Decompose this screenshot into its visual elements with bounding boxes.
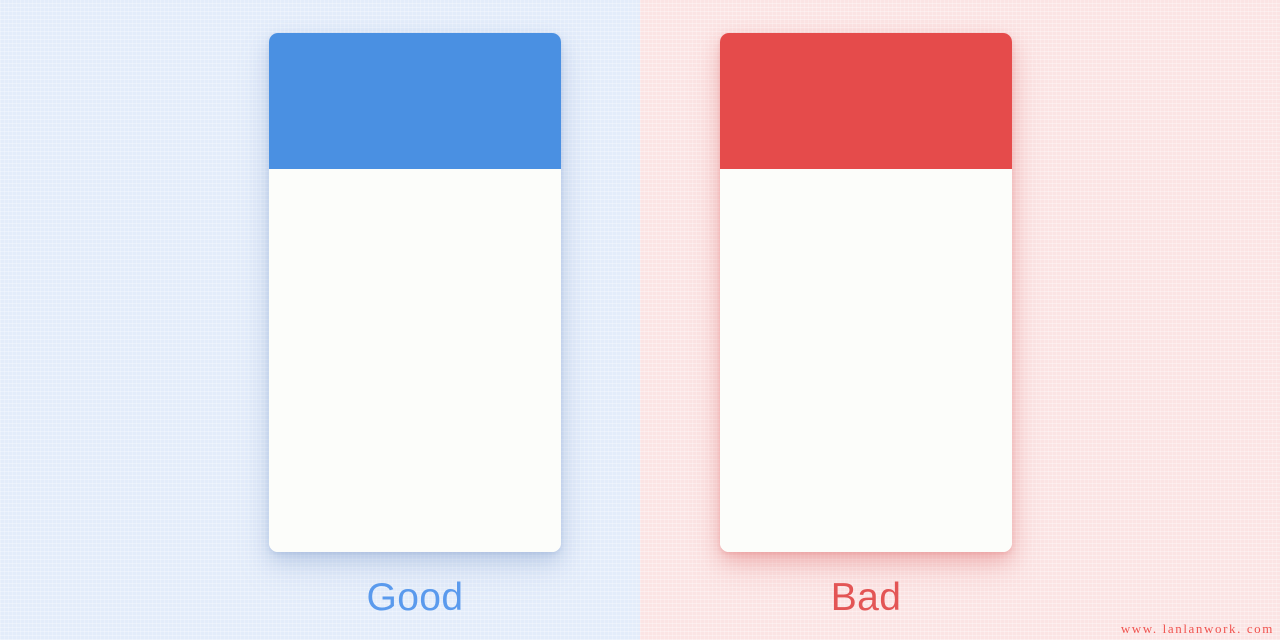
card-good[interactable] [269, 33, 561, 552]
card-bad-header [720, 33, 1012, 169]
card-good-body [269, 169, 561, 552]
caption-bad: Bad [720, 573, 1012, 623]
card-bad-body [720, 169, 1012, 552]
card-bad[interactable] [720, 33, 1012, 552]
card-good-header [269, 33, 561, 169]
watermark-text: www. lanlanwork. com [1121, 621, 1274, 637]
comparison-stage: Good Bad www. lanlanwork. com [0, 0, 1280, 640]
caption-good: Good [269, 573, 561, 623]
